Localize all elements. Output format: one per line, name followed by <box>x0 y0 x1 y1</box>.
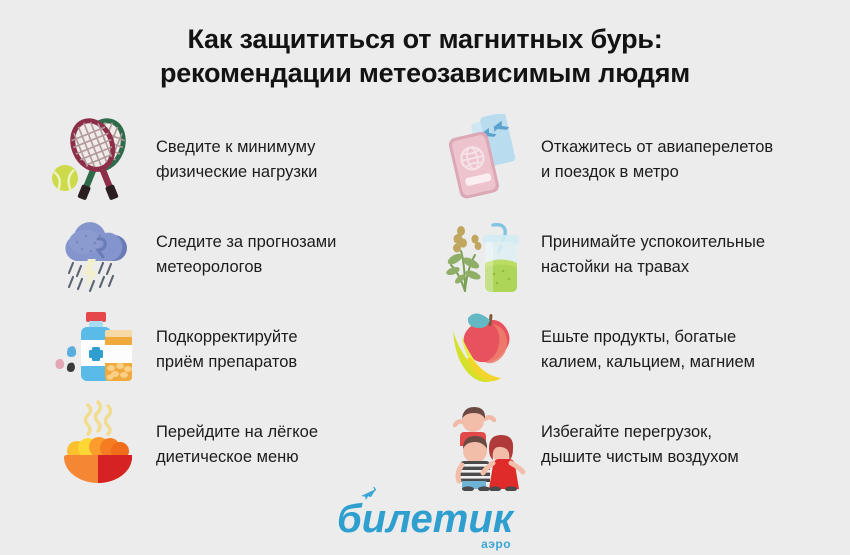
tip-item: Избегайте перегрузок, дышите чистым возд… <box>425 397 850 492</box>
tip-line-2: настойки на травах <box>541 255 765 280</box>
tip-line-2: метеорологов <box>156 255 336 280</box>
rain-cloud-lightning-icon <box>52 209 144 301</box>
tip-text: Ешьте продукты, богатые калием, кальцием… <box>529 325 755 375</box>
banana-apple-icon <box>437 304 529 396</box>
tip-item: Подкорректируйте приём препаратов <box>0 302 425 397</box>
tip-item: Следите за прогнозами метеорологов <box>0 207 425 302</box>
tip-line-2: физические нагрузки <box>156 160 317 185</box>
logo-inner: билетик аэро <box>337 497 513 541</box>
logo-subtitle: аэро <box>481 538 511 550</box>
infographic-poster: Как защититься от магнитных бурь: рекоме… <box>0 0 850 555</box>
tip-line-1: Следите за прогнозами <box>156 233 336 251</box>
tip-line-2: приём препаратов <box>156 350 298 375</box>
page-title: Как защититься от магнитных бурь: рекоме… <box>0 0 850 90</box>
tip-text: Перейдите на лёгкое диетическое меню <box>144 420 318 470</box>
tip-item: Ешьте продукты, богатые калием, кальцием… <box>425 302 850 397</box>
tip-line-1: Откажитесь от авиаперелетов <box>541 138 773 156</box>
tip-item: Перейдите на лёгкое диетическое меню <box>0 397 425 492</box>
tip-line-1: Сведите к минимуму <box>156 138 315 156</box>
title-line-2: рекомендации метеозависимым людям <box>0 56 850 90</box>
family-children-icon <box>437 399 529 491</box>
airplane-icon <box>359 487 379 503</box>
tips-column-left: Сведите к минимуму физические нагрузки <box>0 112 425 492</box>
hot-food-bowl-icon <box>52 399 144 491</box>
tip-line-1: Подкорректируйте <box>156 328 298 346</box>
medicine-bottles-icon <box>52 304 144 396</box>
passport-tickets-icon <box>437 114 529 206</box>
brand-logo[interactable]: билетик аэро <box>0 497 850 553</box>
tip-line-1: Ешьте продукты, богатые <box>541 328 736 346</box>
tips-grid: Сведите к минимуму физические нагрузки <box>0 112 850 492</box>
tip-line-1: Принимайте успокоительные <box>541 233 765 251</box>
tip-line-2: дышите чистым воздухом <box>541 445 739 470</box>
logo-wordmark: билетик <box>337 497 513 541</box>
tip-line-2: и поездок в метро <box>541 160 773 185</box>
tip-item: Откажитесь от авиаперелетов и поездок в … <box>425 112 850 207</box>
herbal-drink-jar-icon <box>437 209 529 301</box>
tip-line-1: Перейдите на лёгкое <box>156 423 318 441</box>
tip-text: Откажитесь от авиаперелетов и поездок в … <box>529 135 773 185</box>
tip-line-2: калием, кальцием, магнием <box>541 350 755 375</box>
tip-text: Следите за прогнозами метеорологов <box>144 230 336 280</box>
tip-text: Принимайте успокоительные настойки на тр… <box>529 230 765 280</box>
tip-line-2: диетическое меню <box>156 445 318 470</box>
title-line-1: Как защититься от магнитных бурь: <box>0 22 850 56</box>
tip-text: Сведите к минимуму физические нагрузки <box>144 135 317 185</box>
tip-text: Избегайте перегрузок, дышите чистым возд… <box>529 420 739 470</box>
tennis-rackets-icon <box>52 114 144 206</box>
tips-column-right: Откажитесь от авиаперелетов и поездок в … <box>425 112 850 492</box>
tip-item: Сведите к минимуму физические нагрузки <box>0 112 425 207</box>
tip-line-1: Избегайте перегрузок, <box>541 423 712 441</box>
tip-text: Подкорректируйте приём препаратов <box>144 325 298 375</box>
tip-item: Принимайте успокоительные настойки на тр… <box>425 207 850 302</box>
